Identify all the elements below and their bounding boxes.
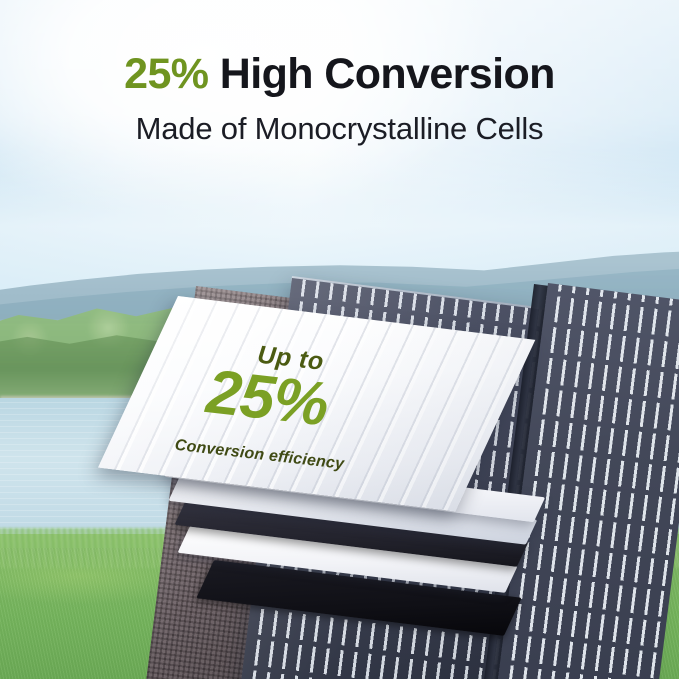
headline-subtitle: Made of Monocrystalline Cells — [0, 111, 679, 147]
headline-percent: 25% — [124, 50, 208, 98]
product-marketing-banner: Up to 25% Conversion efficiency 25% High… — [0, 0, 679, 679]
headline-block: 25% High Conversion Made of Monocrystall… — [0, 52, 679, 147]
headline-title: 25% High Conversion — [0, 52, 679, 97]
headline-title-rest: High Conversion — [208, 50, 554, 98]
